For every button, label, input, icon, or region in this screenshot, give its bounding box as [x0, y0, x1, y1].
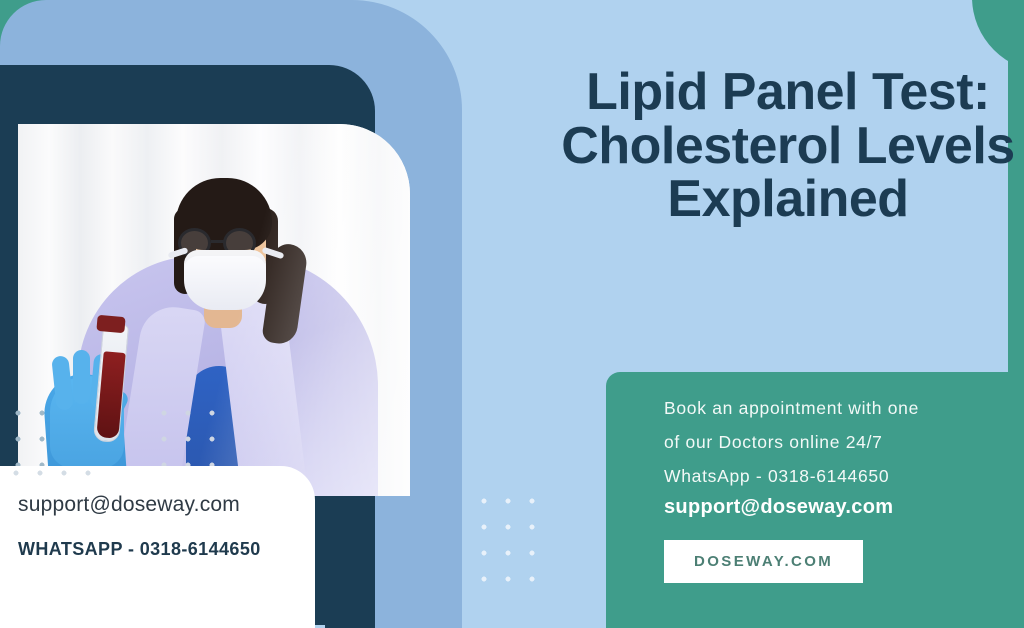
- test-tube-cap: [96, 315, 125, 333]
- appointment-cta-card: Book an appointment with one of our Doct…: [606, 372, 1024, 628]
- dot-pattern-card-top: [2, 458, 102, 476]
- background-blue-block-bottom: [375, 565, 462, 628]
- face-mask: [184, 250, 266, 310]
- cta-text-line-3: WhatsApp - 0318-6144650: [664, 466, 889, 487]
- doseway-website-button[interactable]: DOSEWAY.COM: [664, 540, 863, 583]
- background-navy-block-bottom: [325, 565, 375, 628]
- contact-whatsapp[interactable]: WHATSAPP - 0318-6144650: [18, 539, 261, 560]
- cta-email[interactable]: support@doseway.com: [664, 496, 893, 519]
- cta-text-line-2: of our Doctors online 24/7: [664, 432, 883, 453]
- page-title: Lipid Panel Test: Cholesterol Levels Exp…: [560, 66, 1016, 227]
- dot-pattern-grid: [470, 486, 550, 602]
- cta-text-line-1: Book an appointment with one: [664, 398, 919, 419]
- promo-banner: support@doseway.com WHATSAPP - 0318-6144…: [0, 0, 1024, 628]
- contact-email[interactable]: support@doseway.com: [18, 493, 240, 517]
- glasses-bridge: [211, 240, 224, 243]
- finger: [73, 350, 90, 404]
- contact-card-extension: [0, 578, 272, 628]
